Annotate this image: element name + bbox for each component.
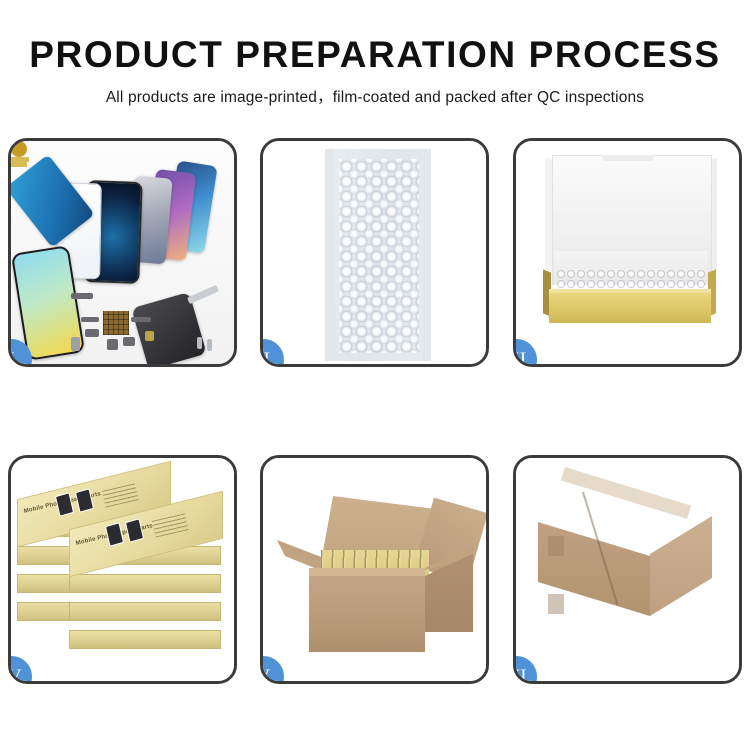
small-part-6 [131, 317, 151, 322]
panel-5-image: V [263, 458, 486, 681]
box-lid-notch [602, 155, 654, 161]
speaker-part [11, 141, 27, 157]
phone-back-housing [131, 292, 206, 364]
open-flat-box-scene [516, 141, 739, 364]
panel-2-image: II [263, 141, 486, 364]
screw-1 [197, 337, 202, 349]
stack-box-front-2 [69, 574, 221, 593]
small-part-3 [85, 329, 99, 337]
header: PRODUCT PREPARATION PROCESS All products… [0, 0, 750, 107]
chip-grid-part [103, 311, 129, 335]
process-step-grid: I II III [8, 138, 742, 684]
box-front-face [549, 293, 711, 323]
bubble-wrap-scene [263, 141, 486, 364]
stack-box-front-3 [69, 602, 221, 621]
process-step-panel-1: I [8, 138, 237, 367]
process-step-panel-4: Mobile Phone Spare Parts Mobile Phone Sp… [8, 455, 237, 684]
carton-tab-lower [548, 594, 564, 614]
process-step-panel-5: V [260, 455, 489, 684]
process-step-panel-3: III [513, 138, 742, 367]
process-step-panel-2: II [260, 138, 489, 367]
small-part-5 [123, 337, 135, 346]
sealed-carton-scene [516, 458, 739, 681]
stacked-boxes-scene: Mobile Phone Spare Parts Mobile Phone Sp… [11, 458, 234, 681]
small-part-7 [71, 337, 80, 351]
stack-box-front-4 [69, 630, 221, 649]
small-part-8 [145, 331, 154, 341]
screw-2 [207, 339, 212, 351]
bubble-texture [339, 159, 419, 353]
small-part-4 [107, 339, 118, 350]
panel-4-image: Mobile Phone Spare Parts Mobile Phone Sp… [11, 458, 234, 681]
panel-6-image: VI [516, 458, 739, 681]
page-subtitle: All products are image-printed，film-coat… [0, 76, 750, 107]
phone-parts-scene [11, 141, 234, 364]
panel-3-image: III [516, 141, 739, 364]
carton-tab-upper [548, 536, 564, 556]
page-title: PRODUCT PREPARATION PROCESS [0, 0, 750, 76]
carton-front-face [309, 576, 425, 652]
open-carton-scene [263, 458, 486, 681]
small-part-1 [71, 293, 93, 299]
ribbon-cable-2 [11, 162, 27, 167]
small-part-2 [81, 317, 99, 322]
tweezers-tool [187, 285, 219, 304]
process-step-panel-6: VI [513, 455, 742, 684]
panel-1-image: I [11, 141, 234, 364]
